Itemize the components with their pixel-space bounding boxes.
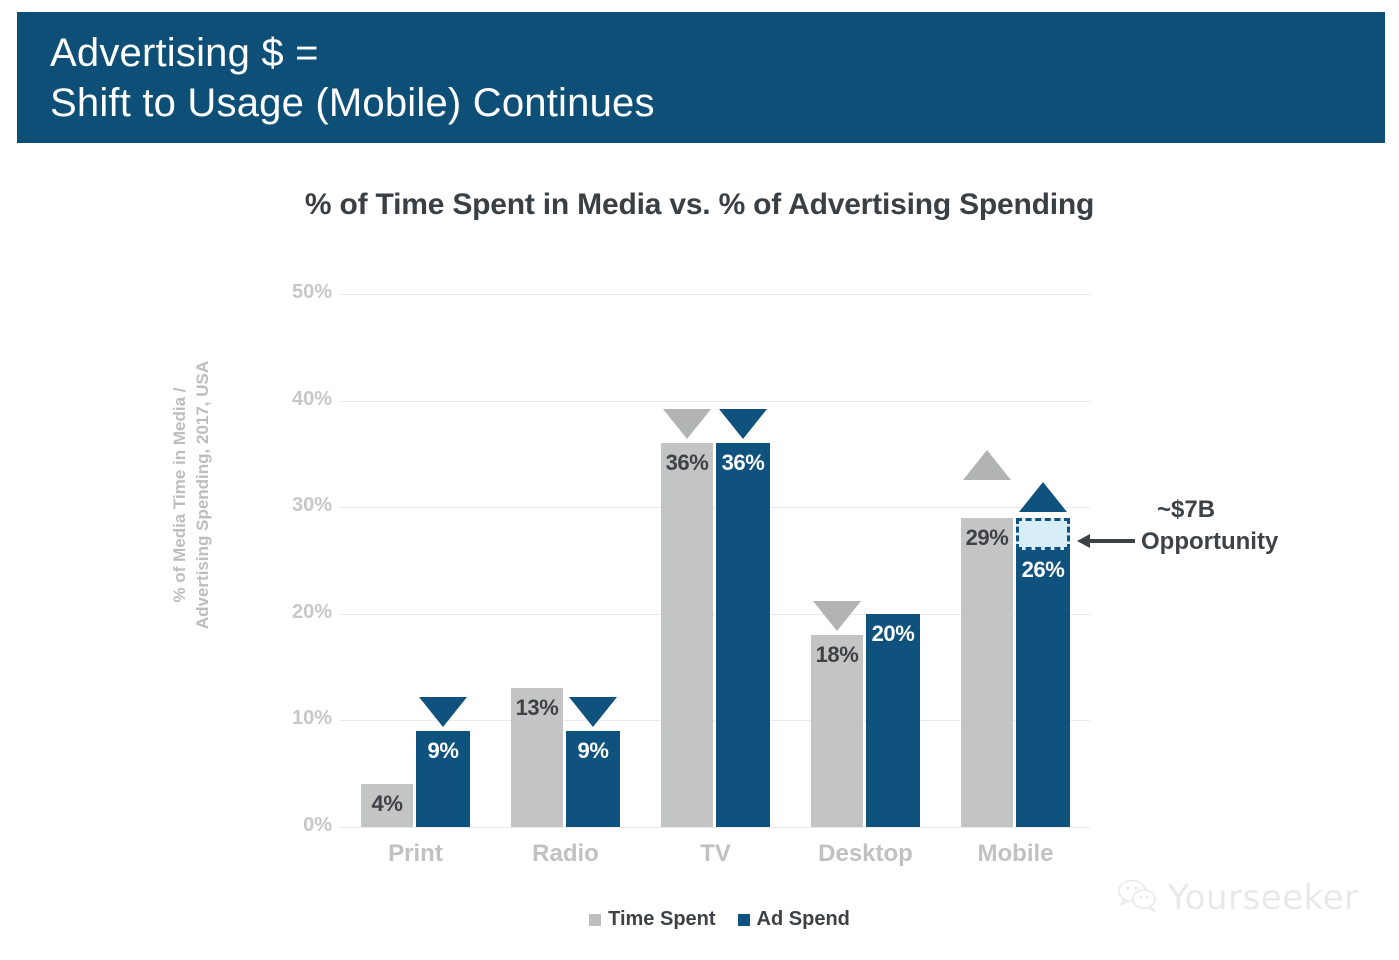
legend-item-ad-spend: Ad Spend (738, 908, 850, 931)
bar-value-label: 13% (511, 695, 563, 721)
bar-desktop-ad-spend: 20% (866, 614, 920, 827)
wechat-icon (1118, 879, 1158, 918)
legend-label: Ad Spend (757, 908, 850, 931)
y-axis-tick-label: 40% (268, 388, 332, 411)
bar-mobile-time-spent: 29% (961, 518, 1013, 827)
bar-print-time-spent: 4% (361, 784, 413, 827)
bar-value-label: 29% (961, 525, 1013, 551)
y-axis-tick-label: 10% (268, 707, 332, 730)
watermark-text: Yourseeker (1168, 878, 1359, 918)
bar-tv-time-spent: 36% (661, 443, 713, 827)
legend-label: Time Spent (608, 908, 715, 931)
opportunity-label: Opportunity (1141, 526, 1381, 558)
y-axis-tick-label: 50% (268, 281, 332, 304)
x-axis-label-desktop: Desktop (786, 840, 946, 868)
x-axis-label-mobile: Mobile (936, 840, 1096, 868)
bar-desktop-time-spent: 18% (811, 635, 863, 827)
bar-value-label: 26% (1016, 557, 1070, 583)
bar-tv-ad-spend: 36% (716, 443, 770, 827)
bar-radio-time-spent: 13% (511, 688, 563, 827)
y-axis-title-line-1: % of Media Time in Media / (168, 330, 191, 660)
opportunity-highlight-box (1016, 518, 1070, 550)
blue-arrow-down-icon (419, 697, 467, 759)
y-axis-title-line-2: Advertising Spending, 2017, USA (191, 330, 214, 660)
legend-swatch-icon (738, 914, 750, 926)
grid-line (340, 827, 1090, 828)
gray-arrow-down-icon (813, 601, 861, 663)
gray-arrow-down-icon (663, 409, 711, 471)
blue-equals-icon (871, 574, 915, 604)
x-axis-label-radio: Radio (486, 840, 646, 868)
gray-equals-icon (365, 744, 409, 774)
bar-value-label: 4% (361, 791, 413, 817)
grid-line (340, 294, 1090, 295)
legend-swatch-icon (589, 914, 601, 926)
legend-item-time-spent: Time Spent (589, 908, 715, 931)
bar-mobile-ad-spend: 26% (1016, 550, 1070, 827)
bar-value-label: 20% (866, 621, 920, 647)
y-axis-tick-label: 20% (268, 601, 332, 624)
watermark: Yourseeker (1118, 878, 1359, 918)
opportunity-amount: ~$7B (1141, 494, 1381, 526)
x-axis-label-tv: TV (636, 840, 796, 868)
y-axis-tick-label: 30% (268, 494, 332, 517)
y-axis-title: % of Media Time in Media / Advertising S… (168, 330, 214, 660)
grid-line (340, 401, 1090, 402)
blue-arrow-down-icon (569, 697, 617, 759)
opportunity-annotation: ~$7B Opportunity (1141, 494, 1381, 558)
y-axis-tick-label: 0% (268, 814, 332, 837)
x-axis-label-print: Print (336, 840, 496, 868)
blue-arrow-down-icon (719, 409, 767, 471)
gray-arrow-up-icon (963, 450, 1011, 512)
gray-equals-icon (515, 648, 559, 678)
chart-plot-area: % of Media Time in Media / Advertising S… (0, 0, 1399, 960)
opportunity-arrow-icon (1077, 534, 1135, 548)
